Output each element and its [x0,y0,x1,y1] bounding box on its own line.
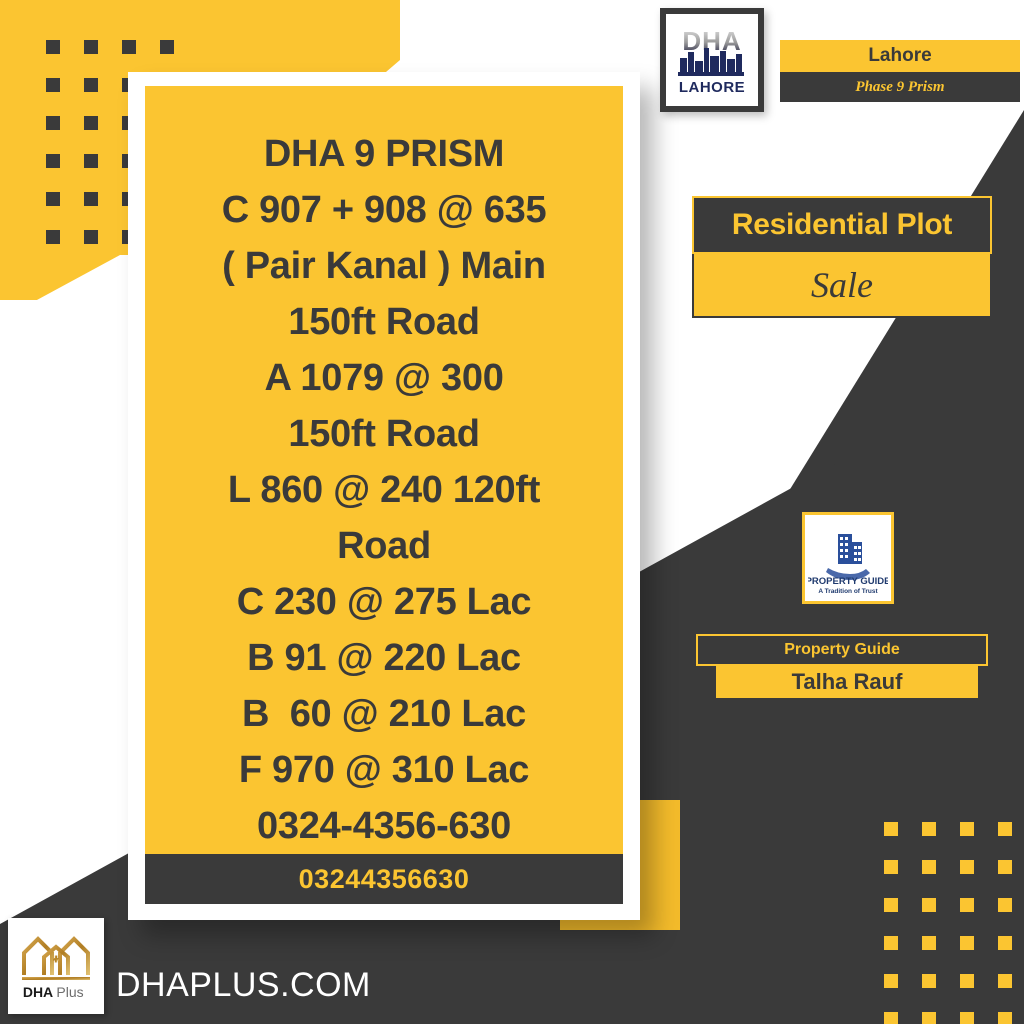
card-phone-bar: 03244356630 [145,854,623,904]
city-label: Lahore [868,45,931,67]
phase-label: Phase 9 Prism [855,79,944,96]
listing-type-block: Residential Plot Sale [692,196,992,318]
dot [884,936,898,950]
property-guide-logo-tagline: A Tradition of Trust [818,588,878,595]
dot [46,230,60,244]
dha-lahore-logo-svg: DHA LAHORE [672,20,752,100]
dha-header: DHA LAHORE [660,8,1020,120]
dot [884,860,898,874]
agent-company-bar: Property Guide [696,634,988,666]
dot [122,40,136,54]
listing-line: B 60 @ 210 Lac [242,686,526,742]
listing-phone-line: 0324-4356-630 [257,798,511,854]
listing-details-list: DHA 9 PRISM C 907 + 908 @ 635 ( Pair Kan… [145,86,623,854]
dot [922,974,936,988]
dot [998,860,1012,874]
listing-line: DHA 9 PRISM [264,126,504,182]
listing-line: 150ft Road [288,406,479,462]
dot [46,78,60,92]
dot [884,1012,898,1024]
svg-text:LAHORE: LAHORE [679,79,745,96]
agent-company-label: Property Guide [784,641,900,659]
site-branding: DHA Plus DHAPLUS.COM [8,918,408,1018]
dot [998,1012,1012,1024]
listing-card: DHA 9 PRISM C 907 + 908 @ 635 ( Pair Kan… [128,72,640,920]
dot [884,822,898,836]
dhaplus-logo-light: Plus [56,984,83,1000]
dhaplus-logo-bold: DHA [23,984,53,1000]
dot [84,154,98,168]
dot [884,974,898,988]
dot [922,860,936,874]
website-label: DHAPLUS.COM [116,966,371,1005]
property-guide-logo-title: PROPERTY GUIDE [808,576,888,587]
dhaplus-logo: DHA Plus [8,918,104,1014]
dot [84,78,98,92]
dot [998,822,1012,836]
dot [84,192,98,206]
dot [46,116,60,130]
listing-line: C 907 + 908 @ 635 [222,182,547,238]
listing-line: C 230 @ 275 Lac [237,574,532,630]
property-guide-logo-frame: PROPERTY GUIDE A Tradition of Trust [802,512,894,604]
dot [46,40,60,54]
listing-line: 150ft Road [288,294,479,350]
dot [46,192,60,206]
svg-text:DHA: DHA [682,26,741,56]
dot [84,230,98,244]
agent-name-bar: Talha Rauf [716,666,978,698]
dot [960,1012,974,1024]
city-bar: Lahore [780,40,1020,72]
listing-line: ( Pair Kanal ) Main [222,238,546,294]
listing-line: B 91 @ 220 Lac [247,630,521,686]
dot [922,898,936,912]
property-type-label: Residential Plot [732,208,952,242]
dot [960,860,974,874]
dhaplus-logo-icon: DHA Plus [16,931,96,1001]
dot [922,936,936,950]
dot [46,154,60,168]
dha-lahore-logo-icon: DHA LAHORE [666,14,758,106]
card-phone-text: 03244356630 [299,864,470,895]
agent-name-label: Talha Rauf [792,669,903,695]
dot-grid-bottom-right [884,822,1012,1024]
listing-line: F 970 @ 310 Lac [239,742,529,798]
dot [960,898,974,912]
dot [84,116,98,130]
property-guide-logo-icon: PROPERTY GUIDE A Tradition of Trust [808,518,888,598]
dha-logo-frame: DHA LAHORE [660,8,764,112]
dot [960,936,974,950]
dot [884,898,898,912]
listing-line: A 1079 @ 300 [264,350,503,406]
poster-canvas: DHA 9 PRISM C 907 + 908 @ 635 ( Pair Kan… [0,0,1024,1024]
property-type-bar: Residential Plot [692,196,992,254]
listing-status-label: Sale [811,264,873,306]
listing-line: Road [337,518,431,574]
dot [960,974,974,988]
dot [922,1012,936,1024]
dha-location-bars: Lahore Phase 9 Prism [780,40,1020,102]
listing-status-bar: Sale [692,254,992,318]
phase-bar: Phase 9 Prism [780,72,1020,102]
dot [998,936,1012,950]
dot [998,898,1012,912]
dot [84,40,98,54]
dot [998,974,1012,988]
listing-card-panel: DHA 9 PRISM C 907 + 908 @ 635 ( Pair Kan… [145,86,623,904]
dot [160,40,174,54]
dot [960,822,974,836]
dot [922,822,936,836]
listing-line: L 860 @ 240 120ft [228,462,540,518]
